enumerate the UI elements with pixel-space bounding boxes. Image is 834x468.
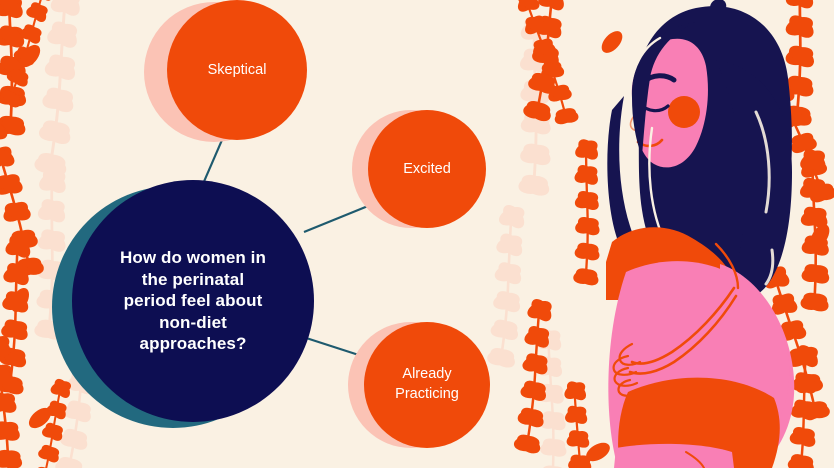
central-question-line-1: How do women in <box>120 247 266 269</box>
central-question-line-5: approaches? <box>120 333 266 355</box>
central-question-line-2: the perinatal <box>120 269 266 291</box>
node-skeptical[interactable]: Skeptical <box>167 0 307 140</box>
node-excited[interactable]: Excited <box>368 110 486 228</box>
node-skeptical-label: Skeptical <box>208 62 267 78</box>
mind-map: Skeptical Excited Already Practicing How… <box>0 0 520 468</box>
connector-excited <box>304 206 368 232</box>
node-central-question[interactable]: How do women in the perinatal period fee… <box>72 180 314 422</box>
node-already-practicing-label-line-1: Already <box>395 365 459 385</box>
node-already-practicing[interactable]: Already Practicing <box>364 322 490 448</box>
central-question-line-4: non-diet <box>120 312 266 334</box>
node-already-practicing-label-line-2: Practicing <box>395 385 459 405</box>
node-excited-label: Excited <box>403 161 451 177</box>
pregnant-woman-illustration <box>520 0 834 468</box>
central-question-line-3: period feel about <box>120 290 266 312</box>
slide-canvas: Skeptical Excited Already Practicing How… <box>0 0 834 468</box>
